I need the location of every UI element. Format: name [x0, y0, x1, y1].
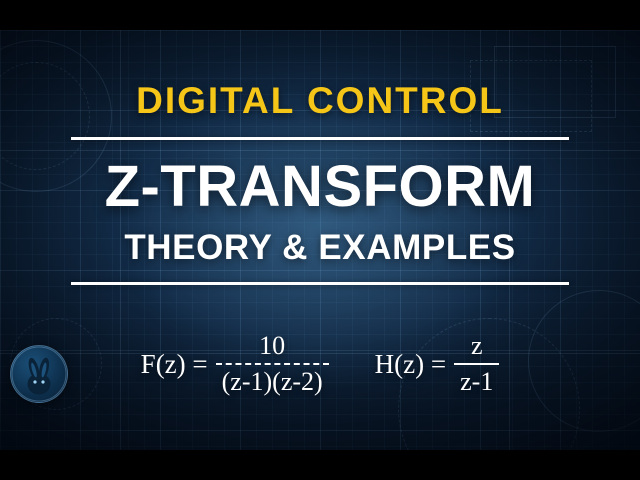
divider-bottom	[71, 282, 569, 285]
formula-lhs: H(z) =	[375, 349, 446, 380]
formula-row: F(z) = 10 (z-1)(z-2) H(z) = z z-1	[0, 318, 640, 410]
subheadline-text: THEORY & EXAMPLES	[0, 230, 640, 265]
title-block: DIGITAL CONTROL Z-TRANSFORM THEORY & EXA…	[0, 30, 640, 285]
headline-text: Z-TRANSFORM	[0, 158, 640, 216]
letterbox-bar-bottom	[0, 450, 640, 480]
fraction-bar	[454, 363, 499, 365]
formula-f-of-z: F(z) = 10 (z-1)(z-2)	[141, 332, 329, 396]
thumbnail-content: DIGITAL CONTROL Z-TRANSFORM THEORY & EXA…	[0, 30, 640, 450]
letterbox-bar-top	[0, 0, 640, 30]
fraction: 10 (z-1)(z-2)	[216, 332, 329, 396]
video-thumbnail: DIGITAL CONTROL Z-TRANSFORM THEORY & EXA…	[0, 0, 640, 480]
fraction-numerator: z	[465, 332, 489, 360]
divider-top	[71, 137, 569, 140]
fraction-bar	[216, 363, 329, 365]
formula-h-of-z: H(z) = z z-1	[375, 332, 500, 396]
eyebrow-text: DIGITAL CONTROL	[0, 82, 640, 119]
rabbit-logo	[10, 345, 68, 403]
fraction-denominator: z-1	[454, 368, 499, 396]
fraction: z z-1	[454, 332, 499, 396]
formula-lhs: F(z) =	[141, 349, 208, 380]
fraction-denominator: (z-1)(z-2)	[216, 368, 329, 396]
fraction-numerator: 10	[253, 332, 291, 360]
